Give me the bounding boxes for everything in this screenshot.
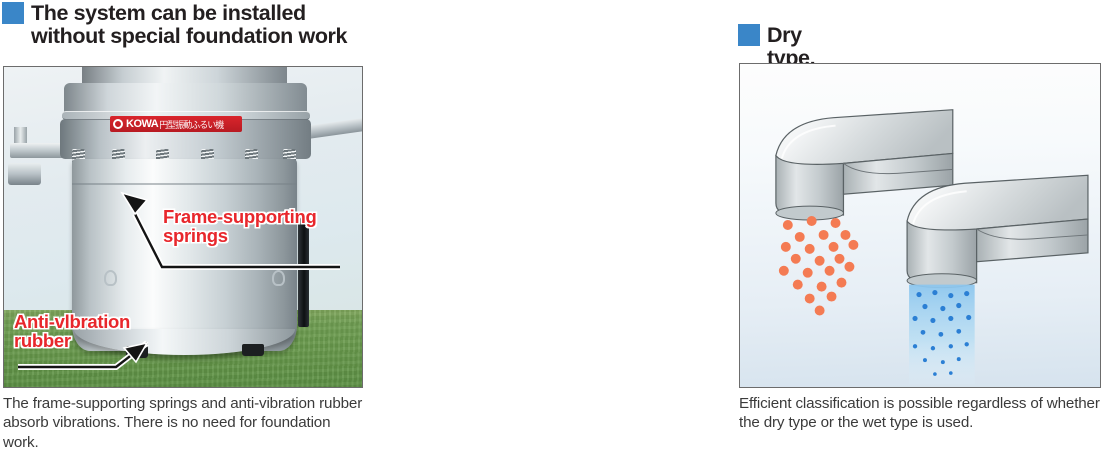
caption-installation: The frame-supporting springs and anti-vi… (3, 394, 365, 452)
product-brand-name: KOWA (126, 118, 158, 130)
heading-installation-text: The system can be installed without spec… (31, 2, 347, 48)
feature-panel-row: The system can be installed without spec… (0, 0, 1105, 463)
product-label-japanese: 円型振動ふるい機 (159, 118, 223, 131)
photo-sieve-machine: KOWA 円型振動ふるい機 (4, 67, 362, 387)
anti-vibration-rubber-foot (242, 344, 264, 356)
kowa-logo-icon (113, 119, 123, 129)
feature-column-dry-wet: Dry type, Wet type (368, 0, 736, 463)
annotation-frame-supporting-springs: Frame-supporting springs (163, 207, 316, 245)
product-brand-label: KOWA 円型振動ふるい機 (110, 116, 242, 132)
annotation-anti-vibration-rubber: Anti-vlbration rubber (14, 312, 130, 350)
heading-installation: The system can be installed without spec… (2, 2, 347, 48)
blue-square-bullet-icon (2, 2, 24, 24)
image-panel-installation: KOWA 円型振動ふるい機 (3, 66, 363, 388)
support-arm-foot (8, 163, 41, 185)
machine-hook (104, 270, 117, 286)
machine-hook (272, 270, 285, 286)
feature-column-installation: The system can be installed without spec… (0, 0, 366, 463)
feature-column-discharge-opening: The discharge opening is freely position… (740, 0, 1105, 463)
